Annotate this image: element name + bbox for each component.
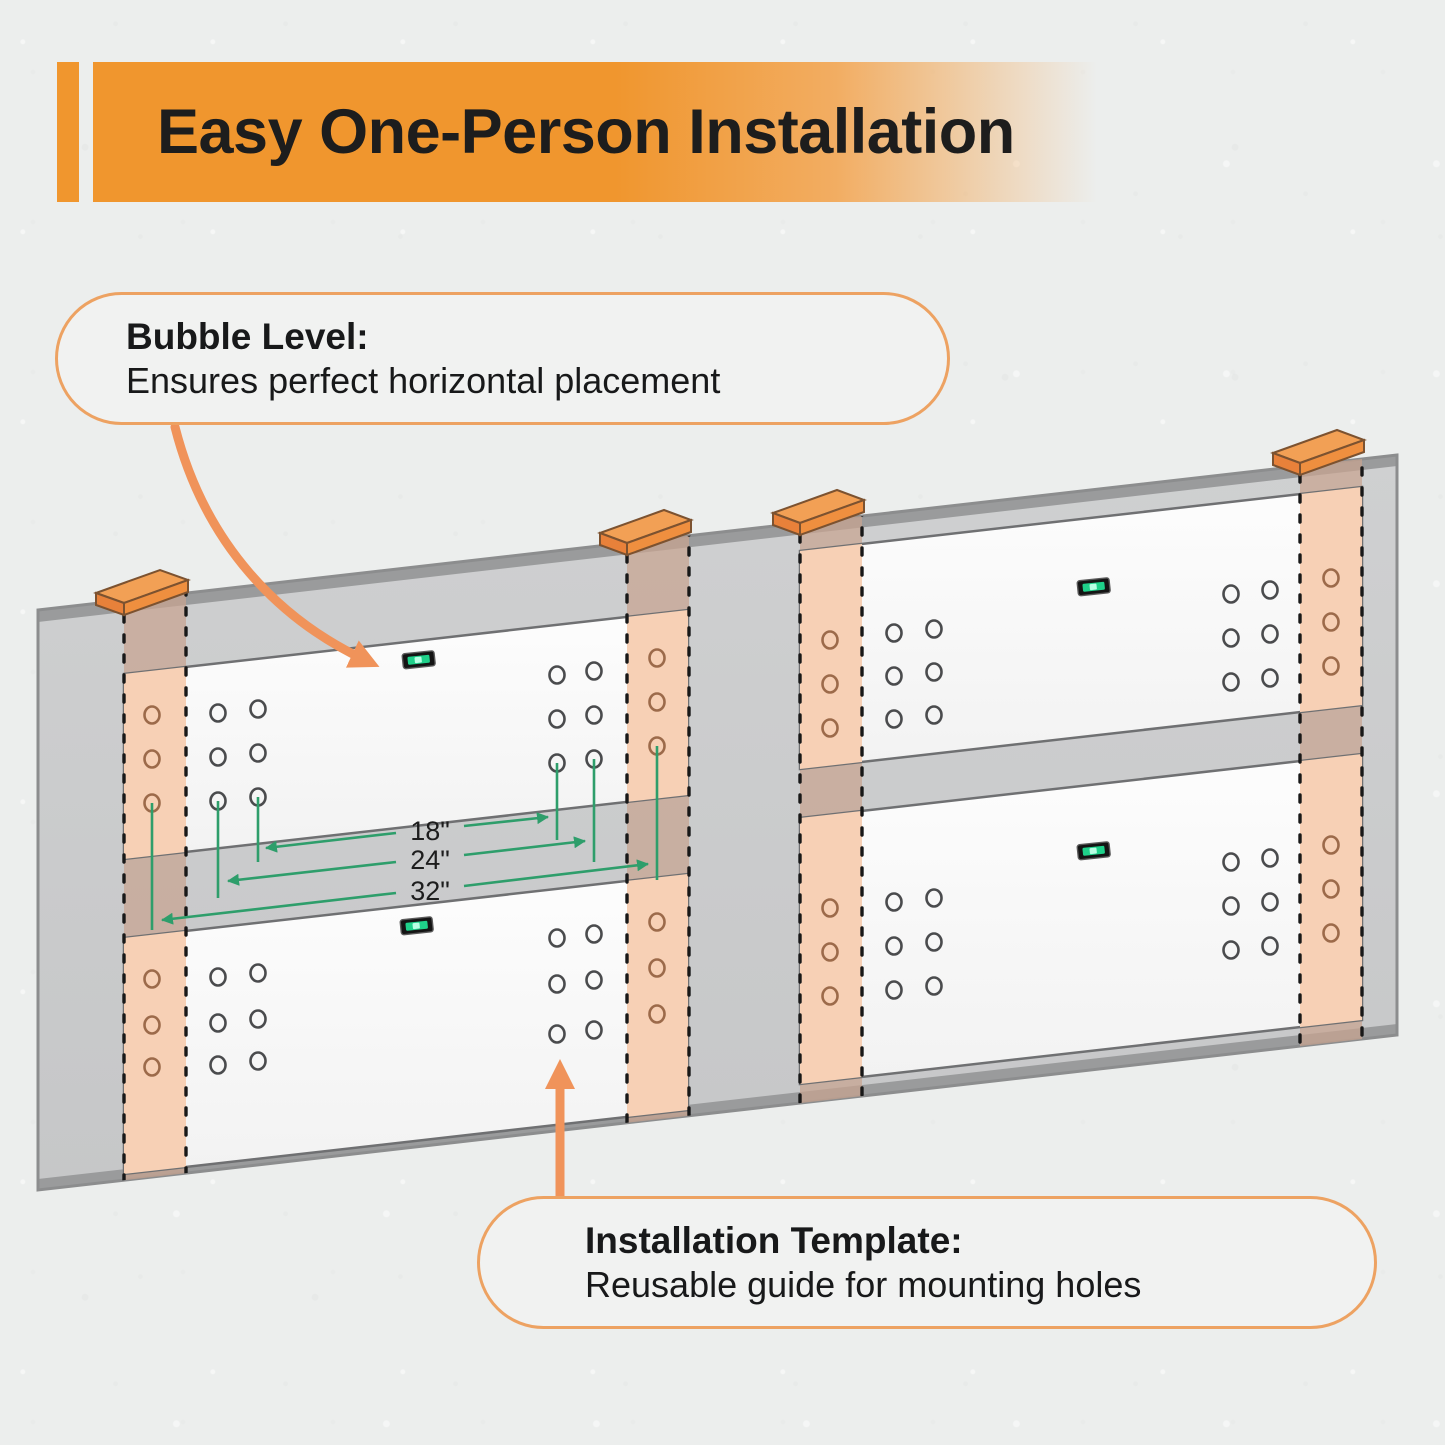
dimension-labels: 18" 24" 32" xyxy=(410,816,450,906)
callout-bubble-level-title: Bubble Level: xyxy=(126,315,947,359)
dimension-label-24: 24" xyxy=(410,845,450,875)
dimension-label-32: 32" xyxy=(410,876,450,906)
callout-bubble-level: Bubble Level: Ensures perfect horizontal… xyxy=(55,292,950,425)
callout-installation-template-title: Installation Template: xyxy=(585,1219,1374,1263)
callout-installation-template-body: Reusable guide for mounting holes xyxy=(585,1263,1374,1306)
callout-installation-template: Installation Template: Reusable guide fo… xyxy=(477,1196,1377,1329)
bubble-level-b2 xyxy=(1077,842,1110,860)
bubble-level-b1 xyxy=(1077,578,1110,596)
infographic-canvas: 18" 24" 32" xyxy=(0,0,1445,1445)
dimension-label-18: 18" xyxy=(410,816,450,846)
header-accent-bar xyxy=(57,62,79,202)
callout-bubble-level-body: Ensures perfect horizontal placement xyxy=(126,359,947,402)
header-banner: Easy One-Person Installation xyxy=(57,62,1097,202)
page-title: Easy One-Person Installation xyxy=(157,62,1015,202)
bubble-level-a1 xyxy=(402,651,435,669)
bubble-level-a2 xyxy=(400,917,433,935)
